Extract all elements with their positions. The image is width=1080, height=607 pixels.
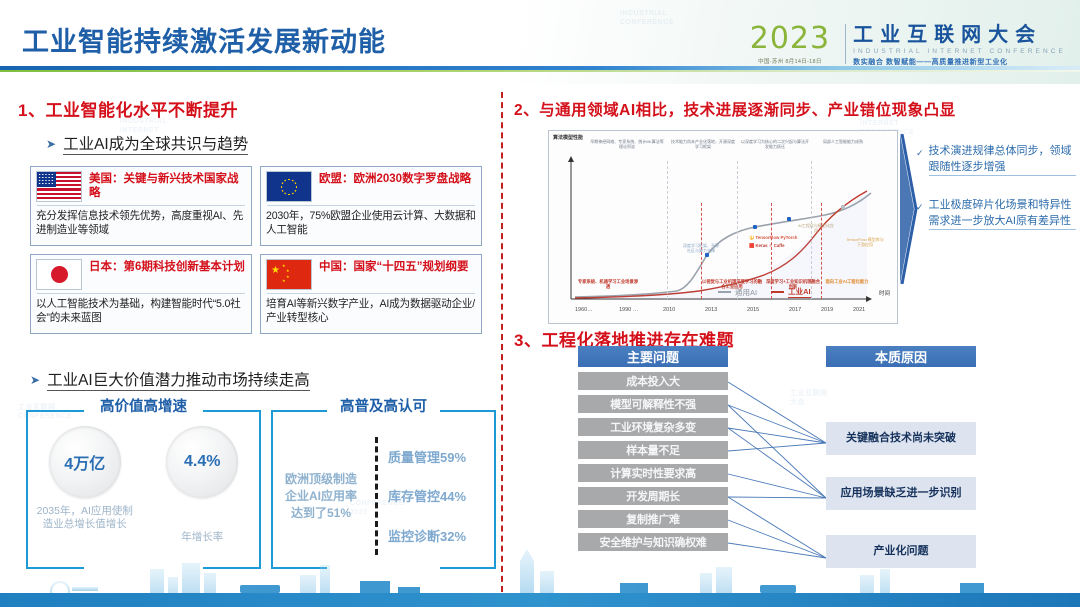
usecase-item: 质量管理59% bbox=[388, 447, 496, 466]
logo-year-block: 2023 中国·苏州 8月14日-18日 bbox=[750, 24, 838, 65]
problem-item: 安全维护与知识确权难 bbox=[578, 533, 728, 551]
page-header: 工业智能持续激活发展新动能 2023 中国·苏州 8月14日-18日 工业互联网… bbox=[0, 0, 1080, 88]
usecase-item: 监控诊断32% bbox=[388, 526, 496, 545]
page-title: 工业智能持续激活发展新动能 bbox=[22, 20, 386, 59]
card-separator bbox=[37, 205, 245, 206]
takeaway-item: ✓ 工业极度碎片化场景和特异性需求进一步放大AI原有差异性 bbox=[916, 198, 1076, 230]
card-header: 欧盟：欧洲2030数字罗盘战略 bbox=[266, 171, 476, 202]
panel-high-value: 高价值高增速 4万亿 2035年，AI应用使制造业总增长值增长 4.4% 年增长… bbox=[26, 396, 261, 581]
header-rule-green bbox=[0, 70, 1080, 72]
market-panels: 高价值高增速 4万亿 2035年，AI应用使制造业总增长值增长 4.4% 年增长… bbox=[26, 396, 496, 581]
legend-item-general-ai: 通用AI bbox=[718, 287, 757, 298]
era-divider bbox=[667, 161, 668, 299]
chart-sublabel: AI工程化与模型化应用 bbox=[797, 223, 835, 233]
chart-annotation-red: 专家系统、机器学习工业场景渗透 bbox=[577, 279, 639, 290]
cause-item: 产业化问题 bbox=[826, 535, 976, 568]
cn-flag-icon: ★ ★ ★ ★ ★ bbox=[266, 259, 312, 290]
card-eu: 欧盟：欧洲2030数字罗盘战略 2030年，75%欧盟企业使用云计算、大数据和人… bbox=[260, 166, 482, 246]
card-body: 培育AI等新兴数字产业，AI成为数据驱动企业/产业转型核心 bbox=[266, 297, 476, 325]
x-tick: 2010 bbox=[663, 307, 675, 313]
adoption-content: 欧洲顶级制造 企业AI应用率 达到了51% 质量管理59% 库存管控44% 监控… bbox=[271, 426, 496, 566]
problem-item: 模型可解释性不强 bbox=[578, 395, 728, 413]
usecase-item: 库存管控44% bbox=[388, 486, 496, 505]
card-separator bbox=[37, 293, 245, 294]
x-tick: 2013 bbox=[705, 307, 717, 313]
causes-column: 本质原因 关键融合技术尚未突破 应用场景缺乏进一步识别 产业化问题 bbox=[826, 346, 976, 568]
problem-item: 成本投入大 bbox=[578, 372, 728, 390]
chart-sublabel: TensorFlow 模型库与下游应用 bbox=[845, 237, 885, 247]
x-tick: 2019 bbox=[821, 307, 833, 313]
card-title: 中国：国家“十四五”规划纲要 bbox=[319, 259, 469, 274]
us-flag-icon bbox=[36, 171, 82, 202]
card-us: 美国：关键与新兴技术国家战略 充分发挥信息技术领先优势，高度重视AI、先进制造业… bbox=[30, 166, 252, 246]
metric-item: 4万亿 2035年，AI应用使制造业总增长值增长 bbox=[35, 426, 135, 544]
cause-item: 关键融合技术尚未突破 bbox=[826, 422, 976, 455]
arrow-icon: ➤ bbox=[30, 373, 40, 387]
logo-name-en: INDUSTRIAL INTERNET CONFERENCE bbox=[853, 48, 1066, 55]
x-tick: 2015 bbox=[747, 307, 759, 313]
problems-column: 主要问题 成本投入大 模型可解释性不强 工业环境复杂多变 样本量不足 计算实时性… bbox=[578, 346, 728, 551]
card-header: 美国：关键与新兴技术国家战略 bbox=[36, 171, 246, 202]
legend-swatch bbox=[718, 291, 731, 293]
card-body: 以人工智能技术为基础，构建智能时代“5.0社会”的未来蓝图 bbox=[36, 297, 246, 325]
card-title: 美国：关键与新兴技术国家战略 bbox=[89, 171, 246, 200]
chart-marker bbox=[841, 205, 845, 209]
metric-bubble: 4.4% bbox=[166, 426, 238, 498]
card-title: 日本：第6期科技创新基本计划 bbox=[89, 259, 245, 274]
chart-annotation: 局部人工智能能力成熟 bbox=[817, 139, 869, 144]
panel-title: 高普及高认可 bbox=[271, 395, 496, 416]
logo-name-cn: 工业互联网大会 bbox=[853, 24, 1066, 46]
x-tick: 1990 … bbox=[619, 307, 638, 313]
metric-item: 4.4% 年增长率 bbox=[152, 426, 252, 544]
x-tick: 2017 bbox=[789, 307, 801, 313]
card-body: 2030年，75%欧盟企业使用云计算、大数据和人工智能 bbox=[266, 209, 476, 237]
card-separator bbox=[267, 205, 475, 206]
problem-cause-flow: 主要问题 成本投入大 模型可解释性不强 工业环境复杂多变 样本量不足 计算实时性… bbox=[508, 346, 1080, 606]
problem-item: 计算实时性要求高 bbox=[578, 464, 728, 482]
column-divider bbox=[501, 92, 503, 592]
metric-circles: 4万亿 2035年，AI应用使制造业总增长值增长 4.4% 年增长率 bbox=[26, 426, 261, 544]
card-header: 日本：第6期科技创新基本计划 bbox=[36, 259, 246, 290]
jp-flag-icon bbox=[36, 259, 82, 290]
card-jp: 日本：第6期科技创新基本计划 以人工智能技术为基础，构建智能时代“5.0社会”的… bbox=[30, 254, 252, 334]
causes-header: 本质原因 bbox=[826, 346, 976, 367]
section1-bullet-2: ➤ 工业AI巨大价值潜力推动市场持续走高 bbox=[30, 368, 310, 391]
metric-bubble: 4万亿 bbox=[49, 426, 121, 498]
left-column: 1、工业智能化水平不断提升 ➤ 工业AI成为全球共识与趋势 美国：关键与新兴技术… bbox=[0, 88, 498, 607]
legend-item-industrial-ai: 工业AI bbox=[771, 286, 811, 298]
cause-item: 应用场景缺乏进一步识别 bbox=[826, 477, 976, 510]
eu-flag-icon bbox=[266, 171, 312, 202]
card-header: ★ ★ ★ ★ ★ 中国：国家“十四五”规划纲要 bbox=[266, 259, 476, 290]
chart-annotation: 技术能力尚未产业化落地，开源深度学习框架 bbox=[671, 139, 735, 150]
card-body: 充分发挥信息技术领先优势，高度重视AI、先进制造业等领域 bbox=[36, 209, 246, 237]
framework-badge-tensorflow: 🔱 TensorFlow PyTorch bbox=[749, 235, 797, 241]
metric-caption: 年增长率 bbox=[181, 531, 223, 544]
adoption-usecase-list: 质量管理59% 库存管控44% 监控诊断32% bbox=[382, 437, 496, 555]
metric-caption: 2035年，AI应用使制造业总增长值增长 bbox=[35, 505, 135, 531]
takeaway-item: ✓ 技术演进规律总体同步，领域跟随性逐步增强 bbox=[916, 144, 1076, 176]
framework-badge-keras: 🟥 Keras ⚛ Caffe bbox=[749, 243, 784, 249]
logo-name-block: 工业互联网大会 INDUSTRIAL INTERNET CONFERENCE 数… bbox=[853, 24, 1066, 67]
chart-legend: 通用AI 工业AI bbox=[718, 286, 811, 298]
arrow-icon: ➤ bbox=[46, 137, 56, 151]
section1-bullet-1: ➤ 工业AI成为全球共识与趋势 bbox=[46, 132, 248, 155]
chart-annotation: 早期神经网络、专家系统、统计ML算法等理论积淀 bbox=[589, 139, 665, 150]
problems-header: 主要问题 bbox=[578, 346, 728, 367]
problem-item: 开发周期长 bbox=[578, 487, 728, 505]
panel-title: 高价值高增速 bbox=[26, 395, 261, 416]
section2-heading: 2、与通用领域AI相比，技术进展逐渐同步、产业错位现象凸显 bbox=[514, 98, 956, 120]
adoption-rate-text: 欧洲顶级制造 企业AI应用率 达到了51% bbox=[271, 471, 371, 522]
card-separator bbox=[267, 293, 475, 294]
chart-annotation-orange: 面向工业AI工程化能力 bbox=[823, 279, 871, 284]
chart-x-axis-label: 时间 bbox=[879, 289, 890, 297]
country-card-grid: 美国：关键与新兴技术国家战略 充分发挥信息技术领先优势，高度重视AI、先进制造业… bbox=[30, 166, 490, 334]
section1-heading: 1、工业智能化水平不断提升 bbox=[18, 96, 238, 121]
chart-marker bbox=[787, 217, 791, 221]
x-tick: 1960… bbox=[575, 307, 593, 313]
logo-year: 2023 bbox=[750, 24, 830, 54]
logo-divider bbox=[845, 24, 846, 64]
right-column: 2、与通用领域AI相比，技术进展逐渐同步、产业错位现象凸显 算法模型性能 bbox=[508, 88, 1080, 607]
chart-marker bbox=[705, 253, 709, 257]
chart-sublabel: 深度学习框架、开源社区与算力支撑 bbox=[683, 243, 719, 253]
panel-high-adoption: 高普及高认可 欧洲顶级制造 企业AI应用率 达到了51% 质量管理59% 库存管… bbox=[271, 396, 496, 581]
card-cn: ★ ★ ★ ★ ★ 中国：国家“十四五”规划纲要 培育AI等新兴数字产业，AI成… bbox=[260, 254, 482, 334]
problem-item: 复制推广难 bbox=[578, 510, 728, 528]
problem-item: 样本量不足 bbox=[578, 441, 728, 459]
chart-marker bbox=[753, 225, 757, 229]
card-title: 欧盟：欧洲2030数字罗盘战略 bbox=[319, 171, 471, 186]
logo-date: 中国·苏州 8月14日-18日 bbox=[758, 57, 822, 65]
check-icon: ✓ bbox=[916, 144, 924, 176]
chart-annotation: 以深度学习为核心的二次兴起与算法开发能力跃迁 bbox=[741, 139, 809, 150]
section2-takeaways: ✓ 技术演进规律总体同步，领域跟随性逐步增强 ✓ 工业极度碎片化场景和特异性需求… bbox=[916, 144, 1076, 252]
x-tick: 2021 bbox=[853, 307, 865, 313]
conference-logo: 2023 中国·苏州 8月14日-18日 工业互联网大会 INDUSTRIAL … bbox=[750, 24, 1066, 68]
check-icon: ✓ bbox=[916, 198, 924, 230]
dashed-separator bbox=[375, 437, 378, 555]
problem-item: 工业环境复杂多变 bbox=[578, 418, 728, 436]
legend-swatch bbox=[771, 291, 784, 293]
industrial-era-divider bbox=[821, 203, 822, 299]
